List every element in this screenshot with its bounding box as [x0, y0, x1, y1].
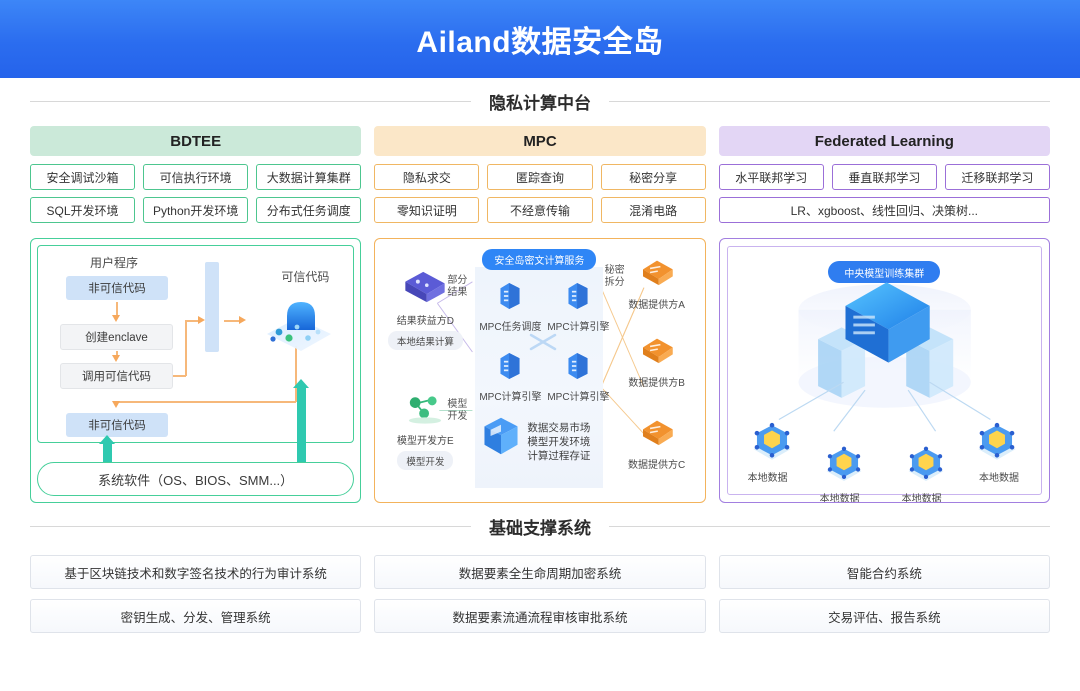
divider-rule-right — [609, 101, 1050, 102]
section-divider-support: 基础支撑系统 — [30, 503, 1050, 549]
data-market-icon — [481, 415, 521, 462]
node-result-beneficiary: 结果获益方D 本地结果计算 — [381, 269, 469, 350]
app-header: Ailand数据安全岛 — [0, 0, 1080, 78]
node-mpc-engine-3: MPC计算引擎 — [479, 351, 541, 403]
pill-model-development: 模型开发 — [397, 451, 453, 470]
tag-mpc-ot[interactable]: 不经意传输 — [487, 197, 592, 223]
connector-call-up — [185, 320, 187, 376]
section-title-privacy: 隐私计算中台 — [489, 89, 591, 114]
caption-mpc-engine-3: MPC计算引擎 — [479, 388, 541, 403]
support-cell-smart-contract[interactable]: 智能合约系统 — [719, 555, 1050, 589]
support-systems-grid: 基于区块链技术和数字签名技术的行为审计系统 数据要素全生命周期加密系统 智能合约… — [0, 555, 1080, 633]
local-data-node-icon — [820, 443, 868, 486]
box-create-enclave: 创建enclave — [60, 324, 173, 350]
node-mpc-engine-2: MPC计算引擎 — [547, 281, 609, 333]
node-mpc-engine-1: MPC任务调度 — [479, 281, 541, 333]
tag-mpc-garbled-circuit[interactable]: 混淆电路 — [601, 197, 706, 223]
column-heading-mpc: MPC — [374, 126, 705, 156]
column-heading-fl: Federated Learning — [719, 126, 1050, 156]
caption-model-developer: 模型开发方E — [381, 432, 469, 447]
node-mpc-engine-4: MPC计算引擎 — [547, 351, 609, 403]
tag-row-bdtee-2: SQL开发环境 Python开发环境 分布式任务调度 — [30, 197, 361, 223]
caption-local-data-4: 本地数据 — [979, 469, 1019, 484]
tag-row-mpc-1: 隐私求交 匿踪查询 秘密分享 — [374, 164, 705, 190]
support-row-2: 密钥生成、分发、管理系统 数据要素流通流程审核审批系统 交易评估、报告系统 — [30, 599, 1050, 633]
tag-bdtee-sandbox[interactable]: 安全调试沙箱 — [30, 164, 135, 190]
tag-fl-vertical[interactable]: 垂直联邦学习 — [832, 164, 937, 190]
support-divider-rule-right — [609, 526, 1050, 527]
tag-bdtee-sql-env[interactable]: SQL开发环境 — [30, 197, 135, 223]
tag-fl-algorithms[interactable]: LR、xgboost、线性回归、决策树... — [719, 197, 1050, 223]
panel-bdtee-diagram: 用户程序 可信代码 非可信代码 创建enclave 调用可信代码 非可信代码 — [30, 238, 361, 503]
column-federated-learning: Federated Learning 水平联邦学习 垂直联邦学习 迁移联邦学习 … — [719, 126, 1050, 230]
box-system-software: 系统软件（OS、BIOS、SMM...） — [37, 462, 354, 496]
caption-local-data-1: 本地数据 — [748, 469, 788, 484]
data-provider-icon — [636, 255, 678, 289]
caption-mpc-engine-4: MPC计算引擎 — [547, 388, 609, 403]
tag-mpc-pir[interactable]: 匿踪查询 — [487, 164, 592, 190]
shuffle-icon — [527, 331, 559, 353]
badge-secure-island-service: 安全岛密文计算服务 — [482, 249, 596, 270]
caption-local-data-2: 本地数据 — [820, 490, 860, 503]
diagram-panels: 用户程序 可信代码 非可信代码 创建enclave 调用可信代码 非可信代码 — [0, 238, 1080, 503]
data-provider-icon — [636, 333, 678, 367]
server-icon — [565, 351, 591, 381]
node-model-developer: 模型开发方E 模型开发 — [381, 391, 469, 470]
server-icon — [565, 281, 591, 311]
caption-data-provider-b: 数据提供方B — [617, 374, 697, 389]
connector-return-left — [116, 401, 296, 403]
local-data-node-icon — [902, 443, 950, 486]
connector-untrusted-to-enclave — [116, 302, 118, 316]
fl-diagram-frame: 中央模型训练集群 — [727, 246, 1042, 495]
connector-to-pillar — [185, 320, 199, 322]
tag-row-fl-2: LR、xgboost、线性回归、决策树... — [719, 197, 1050, 223]
fl-node-1 — [746, 419, 798, 470]
tag-bdtee-tee[interactable]: 可信执行环境 — [143, 164, 248, 190]
arrowhead-down-2 — [112, 355, 120, 362]
model-developer-icon — [400, 391, 450, 425]
enclave-pillar — [205, 262, 219, 352]
data-provider-icon — [636, 415, 678, 449]
tag-bdtee-task-scheduling[interactable]: 分布式任务调度 — [256, 197, 361, 223]
caption-data-provider-a: 数据提供方A — [617, 296, 697, 311]
tag-fl-transfer[interactable]: 迁移联邦学习 — [945, 164, 1050, 190]
beneficiary-icon — [400, 269, 450, 305]
tag-row-fl-1: 水平联邦学习 垂直联邦学习 迁移联邦学习 — [719, 164, 1050, 190]
fl-node-4 — [971, 419, 1023, 470]
support-cell-lifecycle-encryption[interactable]: 数据要素全生命周期加密系统 — [374, 555, 705, 589]
caption-beneficiary: 结果获益方D — [381, 312, 469, 327]
panel-federated-learning-diagram: 中央模型训练集群 — [719, 238, 1050, 503]
page-title: Ailand数据安全岛 — [416, 17, 663, 61]
tag-row-bdtee-1: 安全调试沙箱 可信执行环境 大数据计算集群 — [30, 164, 361, 190]
tag-bdtee-python-env[interactable]: Python开发环境 — [143, 197, 248, 223]
node-data-provider-b: 数据提供方B — [617, 333, 697, 389]
tee-enclave-boundary: 用户程序 可信代码 非可信代码 创建enclave 调用可信代码 非可信代码 — [37, 245, 354, 443]
tag-bdtee-bigdata-cluster[interactable]: 大数据计算集群 — [256, 164, 361, 190]
arrow-sys-to-trusted — [297, 386, 306, 462]
data-market-text: 数据交易市场 模型开发环境 计算过程存证 — [527, 421, 590, 463]
server-icon — [497, 351, 523, 381]
caption-local-data-3: 本地数据 — [902, 490, 942, 503]
arrow-sys-to-untrusted — [103, 442, 112, 462]
section-divider-privacy: 隐私计算中台 — [30, 78, 1050, 124]
market-line-1: 数据交易市场 — [527, 421, 590, 435]
tag-mpc-psi[interactable]: 隐私求交 — [374, 164, 479, 190]
section-title-support: 基础支撑系统 — [489, 514, 591, 539]
fl-node-2 — [820, 443, 868, 491]
support-cell-transaction-report[interactable]: 交易评估、报告系统 — [719, 599, 1050, 633]
local-data-node-icon — [746, 419, 798, 465]
support-cell-circulation-approval[interactable]: 数据要素流通流程审核审批系统 — [374, 599, 705, 633]
label-trusted-code: 可信代码 — [281, 268, 329, 285]
tag-mpc-secret-sharing[interactable]: 秘密分享 — [601, 164, 706, 190]
caption-data-provider-c: 数据提供方C — [617, 456, 697, 471]
divider-rule-left — [30, 101, 471, 102]
panel-mpc-diagram: 安全岛密文计算服务 部分 结果 模型 开发 秘密 拆分 结果获益方D 本地结果计… — [374, 238, 705, 503]
support-cell-key-management[interactable]: 密钥生成、分发、管理系统 — [30, 599, 361, 633]
server-icon — [497, 281, 523, 311]
column-bdtee: BDTEE 安全调试沙箱 可信执行环境 大数据计算集群 SQL开发环境 Pyth… — [30, 126, 361, 230]
trusted-code-icon — [261, 294, 335, 354]
arrowhead-right-2 — [239, 316, 246, 324]
support-divider-rule-left — [30, 526, 471, 527]
capability-columns: BDTEE 安全调试沙箱 可信执行环境 大数据计算集群 SQL开发环境 Pyth… — [0, 126, 1080, 230]
node-data-provider-c: 数据提供方C — [617, 415, 697, 471]
local-data-node-icon — [971, 419, 1023, 465]
support-row-1: 基于区块链技术和数字签名技术的行为审计系统 数据要素全生命周期加密系统 智能合约… — [30, 555, 1050, 589]
market-line-3: 计算过程存证 — [527, 449, 590, 463]
box-untrusted-code-bottom: 非可信代码 — [66, 413, 168, 437]
column-mpc: MPC 隐私求交 匿踪查询 秘密分享 零知识证明 不经意传输 混淆电路 — [374, 126, 705, 230]
column-heading-bdtee: BDTEE — [30, 126, 361, 156]
tag-row-mpc-2: 零知识证明 不经意传输 混淆电路 — [374, 197, 705, 223]
node-data-provider-a: 数据提供方A — [617, 255, 697, 311]
label-user-program: 用户程序 — [90, 254, 138, 271]
box-call-trusted-code: 调用可信代码 — [60, 363, 173, 389]
tag-fl-horizontal[interactable]: 水平联邦学习 — [719, 164, 824, 190]
box-untrusted-code-top: 非可信代码 — [66, 276, 168, 300]
pill-local-result-compute: 本地结果计算 — [388, 331, 463, 350]
arrowhead-right-1 — [198, 316, 205, 324]
connector-pillar-to-cube — [224, 320, 240, 322]
fl-node-3 — [902, 443, 950, 491]
support-cell-blockchain-audit[interactable]: 基于区块链技术和数字签名技术的行为审计系统 — [30, 555, 361, 589]
tag-mpc-zkp[interactable]: 零知识证明 — [374, 197, 479, 223]
arrowhead-down-3 — [112, 401, 120, 408]
arrowhead-down-1 — [112, 315, 120, 322]
market-line-2: 模型开发环境 — [527, 435, 590, 449]
